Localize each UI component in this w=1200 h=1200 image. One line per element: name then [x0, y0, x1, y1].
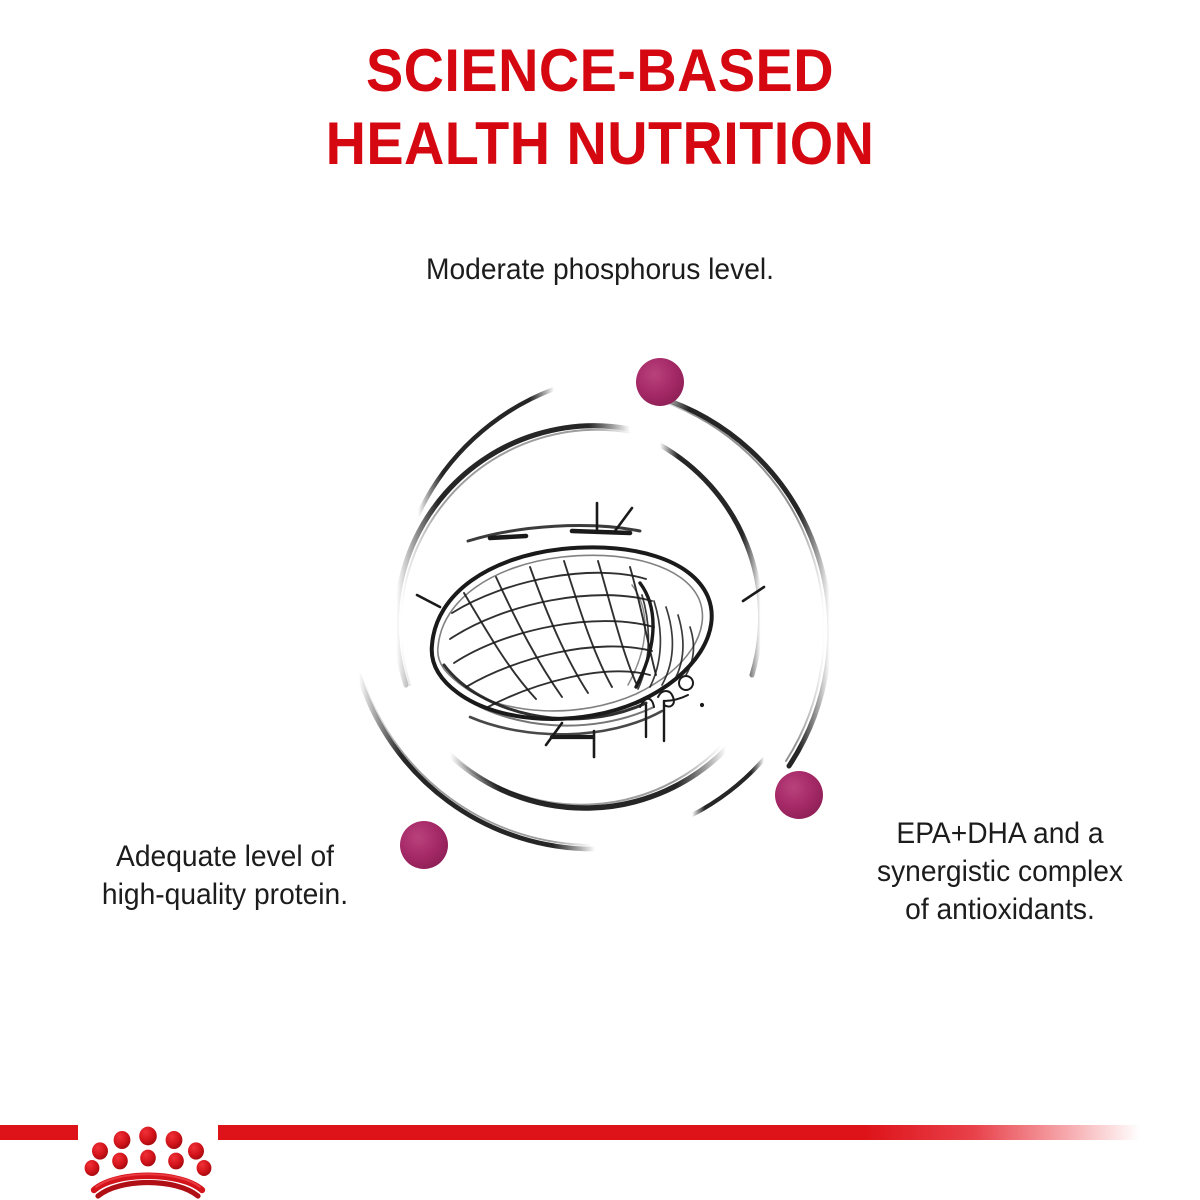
kibble-sketch-illustration — [432, 526, 712, 737]
page-title-line-1: SCIENCE-BASED — [42, 34, 1158, 107]
footer-rule-right — [218, 1125, 1140, 1140]
feature-caption-phosphorus-line-1: Moderate phosphorus level. — [318, 251, 882, 289]
feature-caption-protein: Adequate level of high-quality protein. — [37, 838, 413, 914]
inner-orbit-ring — [396, 426, 760, 808]
feature-caption-protein-line-2: high-quality protein. — [37, 876, 413, 914]
orbit-node-phosphorus — [636, 358, 684, 406]
royal-canin-crown-logo — [80, 1118, 216, 1200]
feature-caption-antioxidants-line-1: EPA+DHA and a — [812, 815, 1188, 853]
feature-caption-antioxidants-line-2: synergistic complex — [812, 853, 1188, 891]
kibble-orbit-diagram — [340, 345, 860, 905]
page-title-line-2: HEALTH NUTRITION — [42, 107, 1158, 180]
page-title: SCIENCE-BASED HEALTH NUTRITION — [42, 34, 1158, 180]
footer-rule-left — [0, 1125, 78, 1140]
orbit-node-antioxidants — [775, 771, 823, 819]
feature-caption-protein-line-1: Adequate level of — [37, 838, 413, 876]
feature-caption-antioxidants: EPA+DHA and a synergistic complex of ant… — [812, 815, 1188, 928]
feature-caption-antioxidants-line-3: of antioxidants. — [812, 891, 1188, 929]
brand-footer-strip — [0, 1118, 1200, 1200]
feature-caption-phosphorus: Moderate phosphorus level. — [318, 251, 882, 289]
